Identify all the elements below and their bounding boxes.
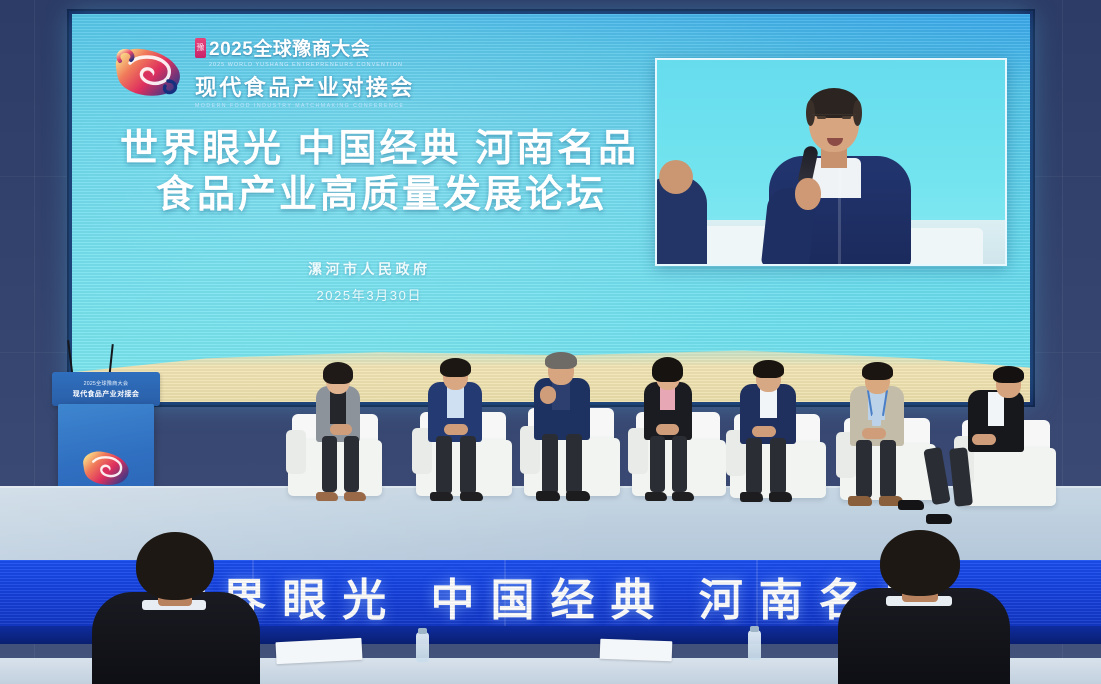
host-date: 2025年3月30日 (308, 285, 431, 304)
water-bottle (416, 632, 429, 662)
red-seal-icon: 豫 (195, 38, 206, 58)
water-bottle (748, 630, 761, 660)
conference-title-cn: 2025全球豫商大会 (209, 34, 370, 61)
conference-subtitle-cn: 现代食品产业对接会 (195, 70, 415, 102)
bottle-cap (750, 626, 759, 632)
conference-subtitle-en: MODERN FOOD INDUSTRY MATCHMAKING CONFERE… (195, 103, 415, 109)
name-badge (872, 414, 881, 426)
conference-stage-photo: 豫 2025全球豫商大会 2025 WORLD YUSHANG ENTREPRE… (0, 0, 1101, 684)
host-block: 漯河市人民政府 2025年3月30日 (308, 259, 431, 304)
host-organizer: 漯河市人民政府 (308, 259, 431, 279)
document-paper (275, 638, 362, 664)
screen-bezel-right (1030, 12, 1034, 404)
conference-logo-text: 豫 2025全球豫商大会 2025 WORLD YUSHANG ENTREPRE… (195, 34, 415, 109)
conference-logo-lockup: 豫 2025全球豫商大会 2025 WORLD YUSHANG ENTREPRE… (110, 34, 415, 109)
conference-title-en: 2025 WORLD YUSHANG ENTREPRENEURS CONVENT… (209, 62, 415, 68)
podium-title-top: 2025全球豫商大会 (84, 380, 129, 387)
forum-headline: 世界眼光 中国经典 河南名品 食品产业高质量发展论坛 (120, 126, 640, 219)
headline-line-1: 世界眼光 中国经典 河南名品 (120, 126, 640, 172)
document-paper (600, 639, 673, 662)
podium-title-main: 现代食品产业对接会 (73, 389, 140, 399)
yushang-swirl-logo (110, 41, 186, 103)
headline-line-2: 食品产业高质量发展论坛 (156, 172, 640, 218)
live-speaker-feed (655, 58, 1007, 266)
podium-yushang-swirl-logo (79, 446, 133, 490)
bottle-cap (418, 628, 427, 634)
